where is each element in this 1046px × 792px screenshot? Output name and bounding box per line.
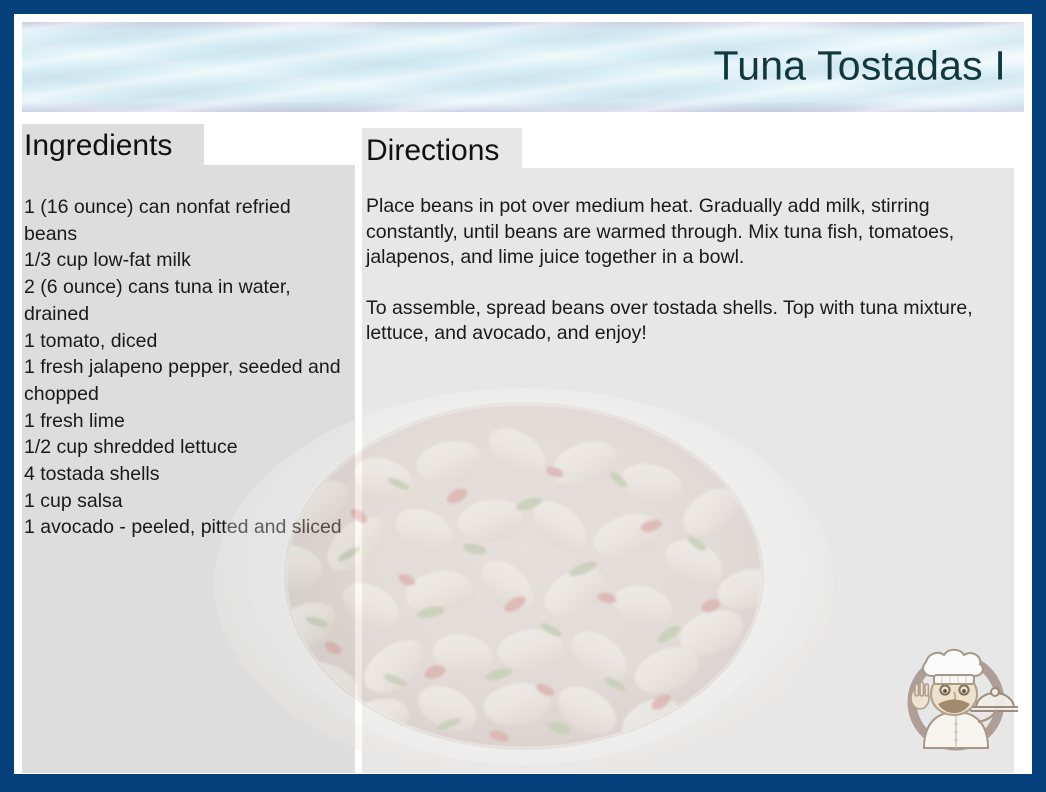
ingredient-item: 1 (16 ounce) can nonfat refried beans bbox=[24, 194, 342, 247]
ingredient-item: 2 (6 ounce) cans tuna in water, drained bbox=[24, 274, 342, 327]
ingredient-item: 1 fresh lime bbox=[24, 408, 342, 435]
ingredient-item: 1/3 cup low-fat milk bbox=[24, 247, 342, 274]
ingredient-item: 1 fresh jalapeno pepper, seeded and chop… bbox=[24, 354, 342, 407]
page-title: Tuna Tostadas I bbox=[714, 45, 1006, 88]
directions-heading: Directions bbox=[366, 131, 499, 171]
direction-paragraph: To assemble, spread beans over tostada s… bbox=[366, 296, 1004, 347]
slide-page: Tuna Tostadas I Ingredients 1 (16 ounce)… bbox=[14, 14, 1032, 774]
recipe-slide: Tuna Tostadas I Ingredients 1 (16 ounce)… bbox=[0, 0, 1046, 792]
ingredient-item: 1 cup salsa bbox=[24, 488, 342, 515]
ingredients-list: 1 (16 ounce) can nonfat refried beans1/3… bbox=[24, 194, 342, 541]
directions-body: Place beans in pot over medium heat. Gra… bbox=[366, 194, 1004, 347]
ingredient-item: 1 avocado - peeled, pitted and sliced bbox=[24, 514, 342, 541]
ingredient-item: 4 tostada shells bbox=[24, 461, 342, 488]
chef-with-cloche-logo bbox=[898, 636, 1018, 756]
title-banner: Tuna Tostadas I bbox=[22, 22, 1024, 112]
ingredients-heading: Ingredients bbox=[24, 126, 172, 166]
ingredient-item: 1 tomato, diced bbox=[24, 328, 342, 355]
ingredient-item: 1/2 cup shredded lettuce bbox=[24, 434, 342, 461]
direction-paragraph: Place beans in pot over medium heat. Gra… bbox=[366, 194, 1004, 271]
